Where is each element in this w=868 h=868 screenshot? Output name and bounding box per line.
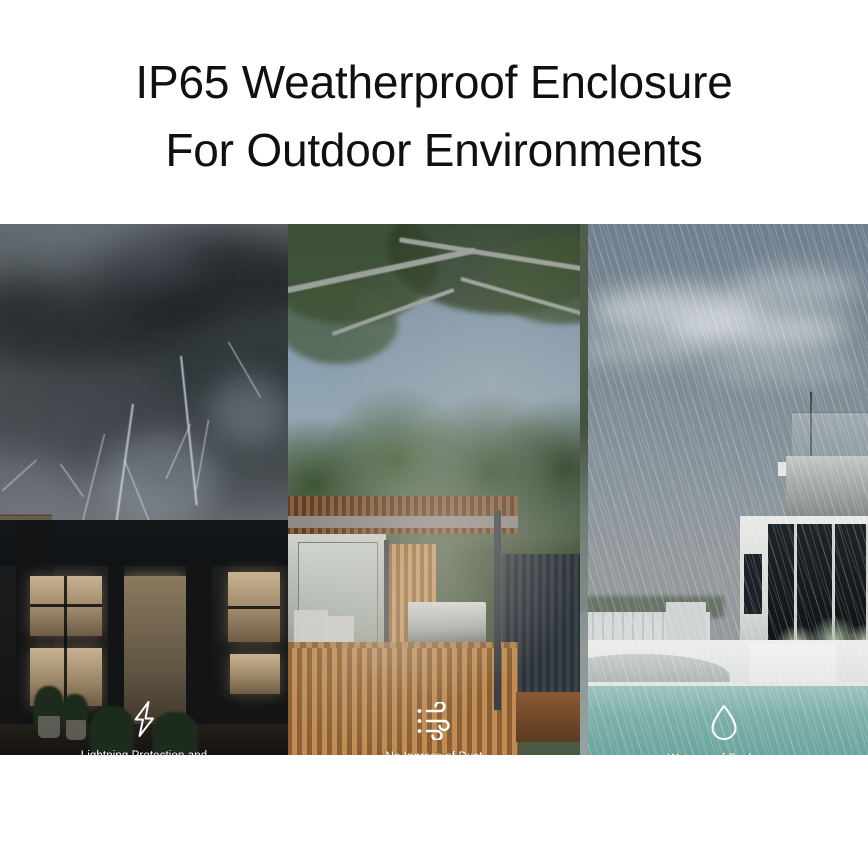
caption-text: No Ingress of Dust <box>288 750 580 755</box>
feature-panel-dust: No Ingress of Dust <box>288 224 580 755</box>
lit-window <box>230 654 280 694</box>
lightning-bolt-icon <box>127 699 161 739</box>
lightning-glow <box>210 374 288 444</box>
feature-caption-dust: No Ingress of Dust <box>288 702 580 755</box>
window-mullion <box>64 576 67 706</box>
dust-haze-overlay <box>288 224 580 755</box>
window-mullion <box>228 606 280 609</box>
storm-scene-image <box>0 224 288 755</box>
rain-scene-image <box>580 224 868 755</box>
caption-line-1: Waterproof Enclosure <box>580 752 868 755</box>
page-title: IP65 Weatherproof Enclosure For Outdoor … <box>0 48 868 184</box>
promo-banner: IP65 Weatherproof Enclosure For Outdoor … <box>0 0 868 868</box>
rain-overlay-secondary <box>580 224 868 755</box>
page-title-line-2: For Outdoor Environments <box>0 116 868 184</box>
feature-panel-lightning: Lightning Protection and ESD Protection <box>0 224 288 755</box>
feature-panel-strip: Lightning Protection and ESD Protection <box>0 224 868 755</box>
feature-panel-waterproof: Waterproof Enclosure <box>580 224 868 755</box>
water-drop-icon <box>707 702 741 742</box>
caption-text: Lightning Protection and ESD Protection <box>0 749 288 755</box>
panel-left-edge-strip <box>580 224 588 755</box>
caption-line-1: Lightning Protection and <box>0 749 288 755</box>
feature-caption-waterproof: Waterproof Enclosure <box>580 702 868 755</box>
storm-cloud <box>20 224 200 294</box>
caption-text: Waterproof Enclosure <box>580 752 868 755</box>
page-title-line-1: IP65 Weatherproof Enclosure <box>0 48 868 116</box>
caption-line-1: No Ingress of Dust <box>288 750 580 755</box>
dust-scene-image <box>288 224 580 755</box>
wind-dust-icon <box>413 702 455 740</box>
feature-caption-lightning: Lightning Protection and ESD Protection <box>0 699 288 755</box>
